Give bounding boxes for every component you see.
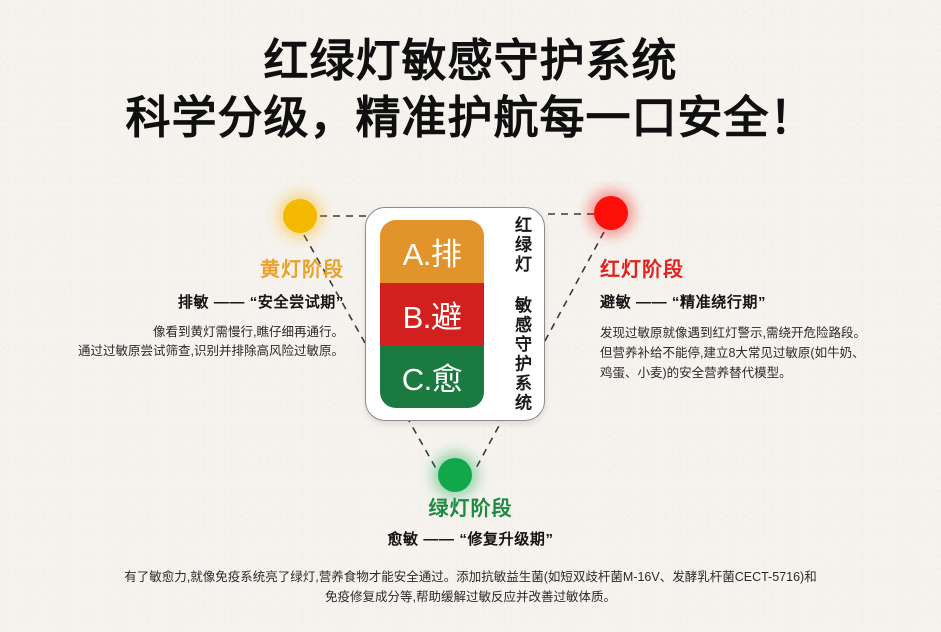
section-yellow-body-line-2: 通过过敏原尝试筛查,识别并排除高风险过敏原。 — [8, 342, 344, 362]
section-red-body-line-3: 鸡蛋、小麦)的安全营养替代模型。 — [600, 363, 933, 383]
infographic-poster: 红绿灯敏感守护系统 科学分级，精准护航每一口安全！ A.排 B.避 C.愈 红绿… — [0, 0, 941, 632]
traffic-light-stack: A.排 B.避 C.愈 — [380, 220, 484, 408]
section-green: 绿灯阶段 愈敏 —— “修复升级期” — [0, 497, 941, 550]
section-yellow-body: 像看到黄灯需慢行,瞧仔细再通行。 通过过敏原尝试筛查,识别并排除高风险过敏原。 — [8, 323, 344, 363]
bottom-note-line-2: 免疫修复成分等,帮助缓解过敏反应并改善过敏体质。 — [45, 587, 896, 607]
section-yellow: 黄灯阶段 排敏 —— “安全尝试期” 像看到黄灯需慢行,瞧仔细再通行。 通过过敏… — [8, 258, 344, 362]
poster-title: 红绿灯敏感守护系统 科学分级，精准护航每一口安全！ — [0, 34, 941, 144]
yellow-light-dot — [283, 199, 317, 233]
red-light-dot — [594, 196, 628, 230]
title-line-1: 红绿灯敏感守护系统 — [0, 34, 941, 87]
section-green-subheading: 愈敏 —— “修复升级期” — [0, 530, 941, 550]
card-vertical-title: 红绿灯 敏感守护系统 — [500, 222, 530, 406]
section-yellow-subheading: 排敏 —— “安全尝试期” — [8, 293, 344, 313]
bottom-note-line-1: 有了敏愈力,就像免疫系统亮了绿灯,营养食物才能安全通过。添加抗敏益生菌(如短双歧… — [45, 567, 896, 587]
section-red-body-line-2: 但营养补给不能停,建立8大常见过敏原(如牛奶、 — [600, 343, 933, 363]
section-red: 红灯阶段 避敏 —— “精准绕行期” 发现过敏原就像遇到红灯警示,需绕开危险路段… — [600, 258, 933, 383]
bottom-note: 有了敏愈力,就像免疫系统亮了绿灯,营养食物才能安全通过。添加抗敏益生菌(如短双歧… — [45, 567, 896, 608]
section-red-body-line-1: 发现过敏原就像遇到红灯警示,需绕开危险路段。 — [600, 323, 933, 343]
traffic-light-card: A.排 B.避 C.愈 红绿灯 敏感守护系统 — [365, 207, 545, 421]
section-green-heading: 绿灯阶段 — [0, 497, 941, 521]
section-red-subheading: 避敏 —— “精准绕行期” — [600, 293, 933, 313]
section-yellow-heading: 黄灯阶段 — [8, 258, 344, 282]
section-red-body: 发现过敏原就像遇到红灯警示,需绕开危险路段。 但营养补给不能停,建立8大常见过敏… — [600, 323, 933, 384]
section-yellow-body-line-1: 像看到黄灯需慢行,瞧仔细再通行。 — [8, 323, 344, 343]
traffic-light-segment-a: A.排 — [380, 220, 484, 283]
green-light-dot — [438, 458, 472, 492]
traffic-light-segment-c: C.愈 — [380, 345, 484, 408]
title-line-2: 科学分级，精准护航每一口安全！ — [0, 91, 941, 144]
traffic-light-segment-b: B.避 — [380, 283, 484, 346]
section-red-heading: 红灯阶段 — [600, 258, 933, 282]
